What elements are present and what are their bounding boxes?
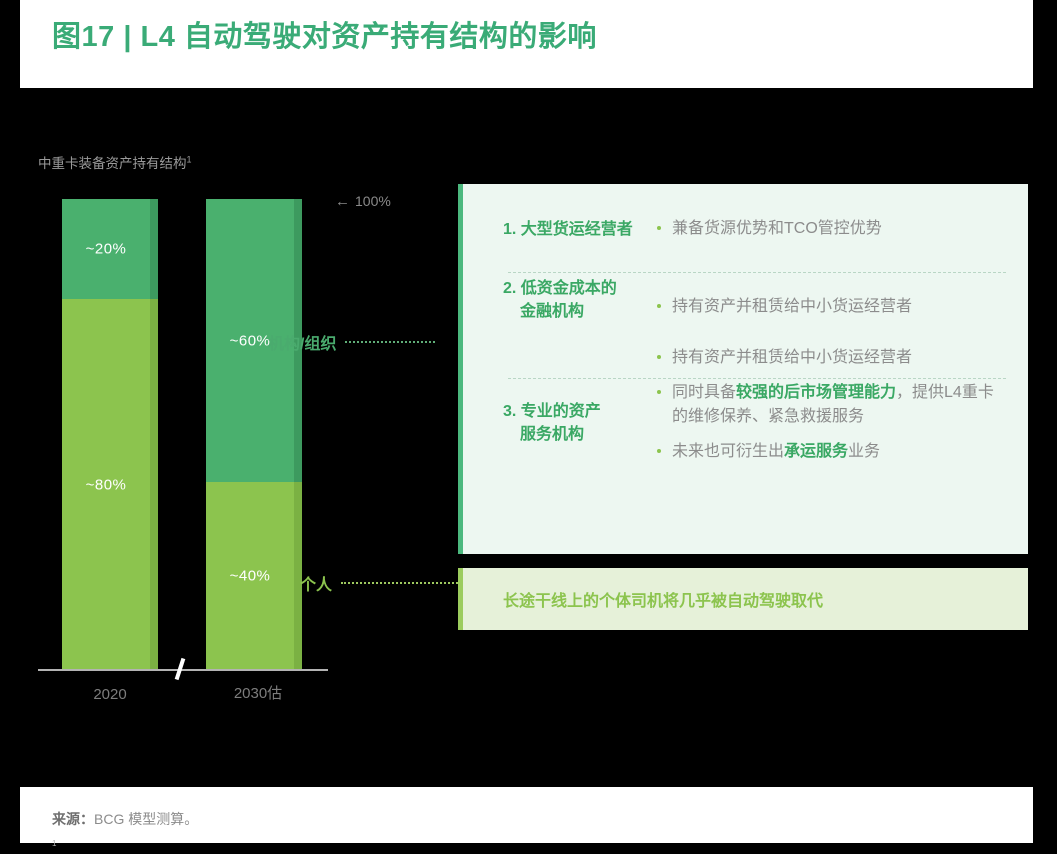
bullet-item: 持有资产并租赁给中小货运经营者 [655,346,1006,370]
panel-row-3-bullets: 持有资产并租赁给中小货运经营者 同时具备较强的后市场管理能力，提供L4重卡的维修… [655,346,1028,464]
source-line: 来源：BCG 模型测算。 [52,809,198,829]
panel-row-1-number: 1. [503,221,516,238]
summary-note-text: 长途干线上的个体司机将几乎被自动驾驶取代 [463,587,823,611]
panel-row-2: 2. 低资金成本的 金融机构 持有资产并租赁给中小货运经营者 [463,241,1028,323]
footer-bar: 来源：BCG 模型测算。 1 [20,787,1033,843]
bullet-item: 同时具备较强的后市场管理能力，提供L4重卡的维修保养、紧急救援服务 [655,381,1006,429]
header-bar: 图17 | L4 自动驾驶对资产持有结构的影响 [20,0,1033,88]
x-axis-line [38,669,328,671]
segment-value-label: ~40% [206,568,294,585]
legend-callout-organization: 机构/组织 [268,330,435,354]
connector-dots [345,341,435,343]
page-title: 图17 | L4 自动驾驶对资产持有结构的影响 [52,13,597,55]
connector-dots [341,582,469,584]
bullet-text: 未来也可衍生出 [672,443,784,460]
source-value: BCG 模型测算。 [94,811,198,827]
x-tick-2030: 2030估 [198,682,318,703]
arrow-left-icon: ← [335,193,350,210]
panel-row-3-label: 3. 专业的资产 服务机构 [463,346,655,464]
footnote-line: 1 [52,839,56,854]
panel-row-3-number: 3. [503,403,516,420]
bullet-text: 持有资产并租赁给中小货运经营者 [672,298,912,315]
segment-side [150,199,158,299]
segment-value-label: ~20% [62,241,150,258]
segment-value-label: ~80% [62,476,150,493]
bullet-text: 兼备货源优势和TCO管控优势 [672,220,882,237]
summary-note-box: 长途干线上的个体司机将几乎被自动驾驶取代 [458,568,1028,630]
bullet-text: 持有资产并租赁给中小货运经营者 [672,349,912,366]
bullet-item: 兼备货源优势和TCO管控优势 [655,217,1006,241]
panel-row-1-title: 大型货运经营者 [521,221,633,238]
legend-label-organization: 机构/组织 [268,330,336,354]
owner-types-panel: 1. 大型货运经营者 兼备货源优势和TCO管控优势 2. 低资金成本的 金融机构… [458,184,1028,554]
bullet-item: 持有资产并租赁给中小货运经营者 [655,295,1006,319]
source-label: 来源： [52,811,94,827]
x-tick-2020: 2020 [50,686,170,703]
panel-row-1-bullets: 兼备货源优势和TCO管控优势 [655,217,1028,241]
panel-row-2-number: 2. [503,280,516,297]
panel-row-2-bullets: 持有资产并租赁给中小货运经营者 [655,277,1028,323]
panel-row-3: 3. 专业的资产 服务机构 持有资产并租赁给中小货运经营者 同时具备较强的后市场… [463,324,1028,464]
bar-2030: ~60% ~40% [206,199,302,670]
bullet-highlight: 承运服务 [784,443,848,460]
panel-row-3-title-line2: 服务机构 [503,423,584,446]
bar-segment-2020-individual: ~80% [62,299,158,670]
stacked-bar-chart: ←100% ~20% ~80% ~60% ~40% 2020 2030估 [38,180,438,720]
bullet-text: 业务 [848,443,880,460]
panel-row-1: 1. 大型货运经营者 兼备货源优势和TCO管控优势 [463,184,1028,241]
panel-row-2-label: 2. 低资金成本的 金融机构 [463,277,655,323]
chart-caption: 中重卡装备资产持有结构1 [38,152,192,172]
chart-caption-text: 中重卡装备资产持有结构 [38,156,187,171]
bullet-item: 未来也可衍生出承运服务业务 [655,440,1006,464]
bar-2020: ~20% ~80% [62,199,158,670]
panel-row-1-label: 1. 大型货运经营者 [463,217,655,241]
bar-segment-2020-org: ~20% [62,199,158,299]
panel-row-2-title-line2: 金融机构 [503,300,584,323]
segment-side [150,299,158,670]
bullet-highlight: 较强的后市场管理能力 [736,384,896,401]
bullet-text: 同时具备 [672,384,736,401]
panel-row-2-title-line1: 低资金成本的 [521,280,617,297]
footnote-marker: 1 [52,839,56,848]
panel-row-3-title-line1: 专业的资产 [521,403,601,420]
legend-label-individual: 个人 [300,571,332,595]
legend-callout-individual: 个人 [300,571,469,595]
bar-segment-2030-individual: ~40% [206,482,302,670]
total-annotation: ←100% [335,193,391,210]
chart-caption-superscript: 1 [187,155,192,165]
total-annotation-value: 100% [355,193,391,209]
